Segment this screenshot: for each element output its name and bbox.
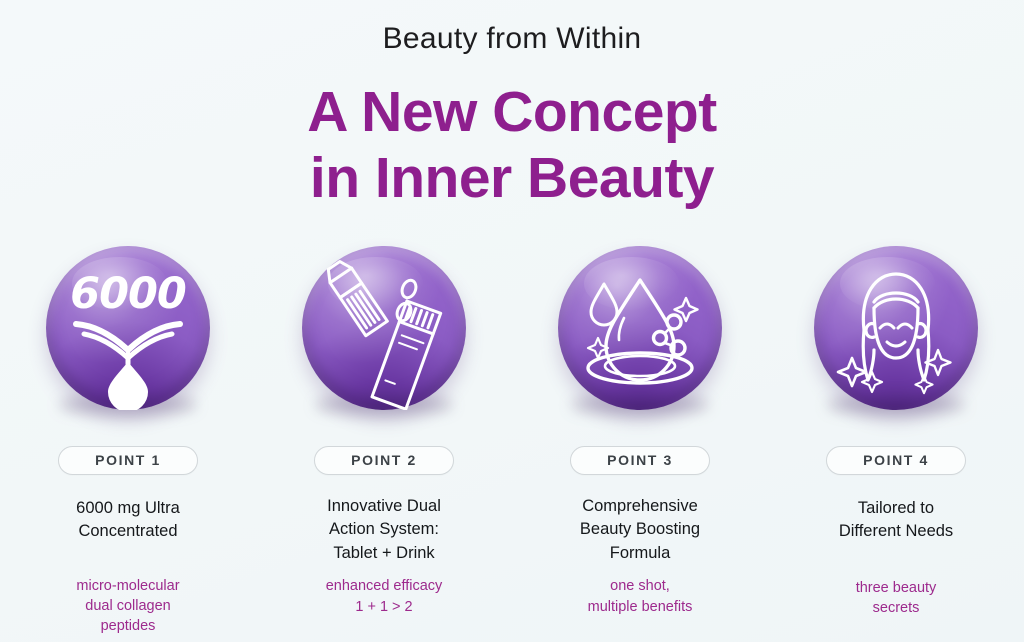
point-badge-4[interactable]: POINT 4 xyxy=(826,446,966,475)
point-title-3: Comprehensive Beauty Boosting Formula xyxy=(580,495,700,565)
point-badge-3[interactable]: POINT 3 xyxy=(570,446,710,475)
badge-wrap-2 xyxy=(299,244,469,424)
point-column-2: POINT 2 Innovative Dual Action System: T… xyxy=(256,244,512,637)
point-column-1: 6000 POINT 1 6000 mg Ultra Concentrated … xyxy=(0,244,256,637)
point-title-2: Innovative Dual Action System: Tablet + … xyxy=(327,495,441,565)
point-column-3: POINT 3 Comprehensive Beauty Boosting Fo… xyxy=(512,244,768,637)
point-badge-2[interactable]: POINT 2 xyxy=(314,446,454,475)
headline-line-2: in Inner Beauty xyxy=(0,145,1024,211)
glowing-face-icon xyxy=(814,246,978,410)
badge-wrap-1: 6000 xyxy=(43,244,213,424)
points-row: 6000 POINT 1 6000 mg Ultra Concentrated … xyxy=(0,244,1024,637)
poster-canvas: Beauty from Within A New Concept in Inne… xyxy=(0,0,1024,642)
point-title-4: Tailored to Different Needs xyxy=(839,497,953,544)
eyebrow-text: Beauty from Within xyxy=(0,22,1024,55)
point-column-4: POINT 4 Tailored to Different Needs thre… xyxy=(768,244,1024,637)
water-droplet-molecule-icon xyxy=(558,246,722,410)
badge-wrap-4 xyxy=(811,244,981,424)
tube-tablet-drink-icon xyxy=(302,246,466,410)
page-title: A New Concept in Inner Beauty xyxy=(0,79,1024,211)
badge-wrap-3 xyxy=(555,244,725,424)
collagen-6000-droplet-icon: 6000 xyxy=(46,246,210,410)
point-subtitle-4: three beauty secrets xyxy=(856,578,937,619)
point-title-1: 6000 mg Ultra Concentrated xyxy=(76,497,180,544)
point-badge-1[interactable]: POINT 1 xyxy=(58,446,198,475)
headline-line-1: A New Concept xyxy=(0,79,1024,145)
point-subtitle-3: one shot, multiple benefits xyxy=(588,576,693,617)
poster-header: Beauty from Within A New Concept in Inne… xyxy=(0,22,1024,211)
point-subtitle-2: enhanced efficacy 1 + 1 > 2 xyxy=(326,576,443,617)
icon-number-6000: 6000 xyxy=(70,269,186,319)
point-subtitle-1: micro-molecular dual collagen peptides xyxy=(76,576,179,637)
